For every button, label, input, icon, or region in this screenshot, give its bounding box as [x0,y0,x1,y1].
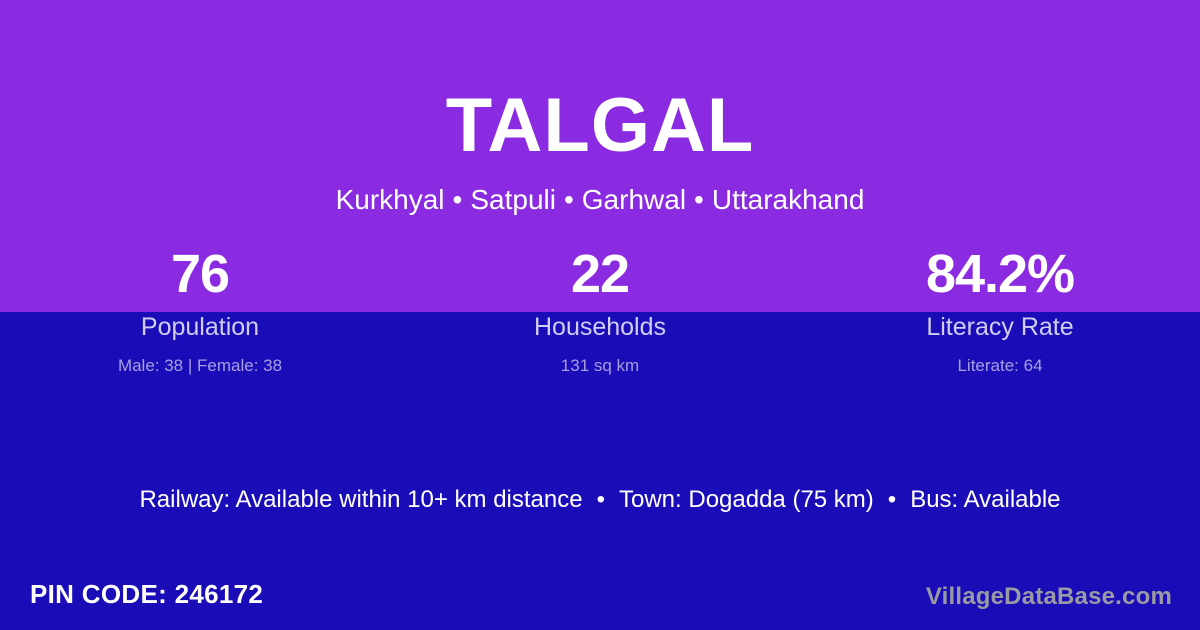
stat-label-households: Households [400,310,800,344]
stat-value-population: 76 [0,243,400,305]
pin-code: PIN CODE: 246172 [30,578,263,610]
page-title: TALGAL [0,88,1200,164]
stat-population: 76 Population Male: 38 | Female: 38 [0,243,400,378]
stat-value-literacy-rate: 84.2% [800,243,1200,305]
stat-label-literacy-rate: Literacy Rate [800,310,1200,344]
stat-value-households: 22 [400,243,800,305]
brand-watermark: VillageDataBase.com [926,581,1172,613]
breadcrumb: Kurkhyal•Satpuli•Garhwal•Uttarakhand [0,183,1200,217]
stat-sub-literacy-rate: Literate: 64 [800,354,1200,378]
breadcrumb-part-3: Uttarakhand [712,184,865,215]
breadcrumb-separator-2: • [686,183,712,217]
breadcrumb-separator-1: • [556,183,582,217]
breadcrumb-part-0: Kurkhyal [336,184,445,215]
infrastructure-line: Railway: Available within 10+ km distanc… [0,485,1200,515]
infrastructure-bus: Bus: Available [910,486,1060,513]
village-info-card: TALGAL Kurkhyal•Satpuli•Garhwal•Uttarakh… [0,0,1200,630]
infrastructure-separator-1: • [874,485,910,515]
stat-households: 22 Households 131 sq km [400,243,800,378]
infrastructure-town: Town: Dogadda (75 km) [619,486,874,513]
breadcrumb-part-2: Garhwal [582,184,686,215]
footer: PIN CODE: 246172 VillageDataBase.com [0,575,1200,630]
infrastructure-separator-0: • [583,485,619,515]
infrastructure-railway: Railway: Available within 10+ km distanc… [139,486,582,513]
stats-row: 76 Population Male: 38 | Female: 38 22 H… [0,243,1200,378]
stat-literacy-rate: 84.2% Literacy Rate Literate: 64 [800,243,1200,378]
stat-sub-population: Male: 38 | Female: 38 [0,354,400,378]
stat-label-population: Population [0,310,400,344]
stat-sub-households: 131 sq km [400,354,800,378]
breadcrumb-separator-0: • [445,183,471,217]
breadcrumb-part-1: Satpuli [470,184,556,215]
